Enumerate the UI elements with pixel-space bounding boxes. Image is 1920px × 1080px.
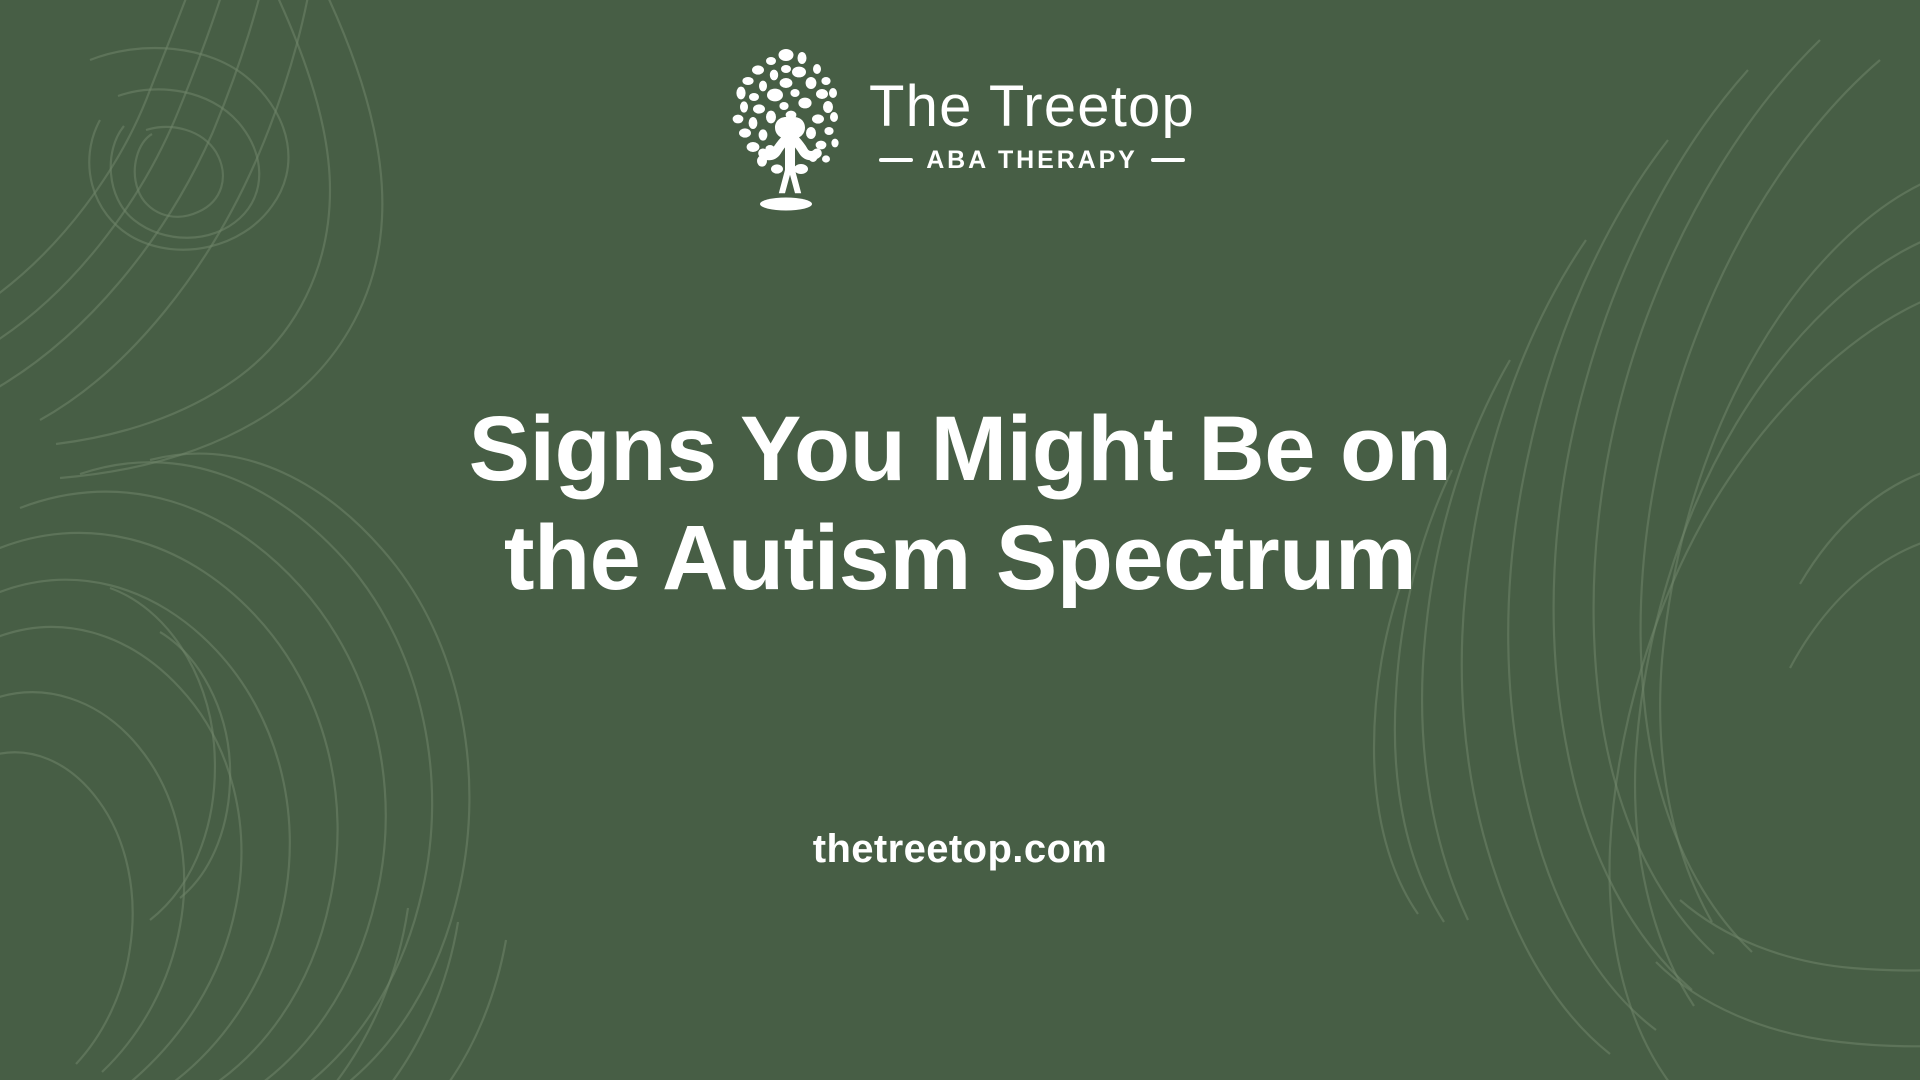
brand-wordmark: The Treetop ABA THERAPY bbox=[869, 77, 1195, 180]
page-title: Signs You Might Be on the Autism Spectru… bbox=[410, 395, 1510, 612]
tagline-left-rule-icon bbox=[879, 158, 913, 162]
website-url[interactable]: thetreetop.com bbox=[813, 827, 1108, 872]
tree-dot-canopy-with-person-icon bbox=[725, 45, 847, 213]
cover-canvas: The Treetop ABA THERAPY Signs You Might … bbox=[0, 0, 1920, 1080]
brand-tagline-row: ABA THERAPY bbox=[879, 146, 1185, 175]
headline-area: Signs You Might Be on the Autism Spectru… bbox=[0, 214, 1920, 827]
brand-logo-lockup[interactable]: The Treetop ABA THERAPY bbox=[725, 44, 1195, 214]
tagline-right-rule-icon bbox=[1151, 158, 1185, 162]
brand-name: The Treetop bbox=[869, 77, 1195, 136]
brand-tagline: ABA THERAPY bbox=[926, 146, 1138, 175]
cover-content: The Treetop ABA THERAPY Signs You Might … bbox=[0, 0, 1920, 1080]
